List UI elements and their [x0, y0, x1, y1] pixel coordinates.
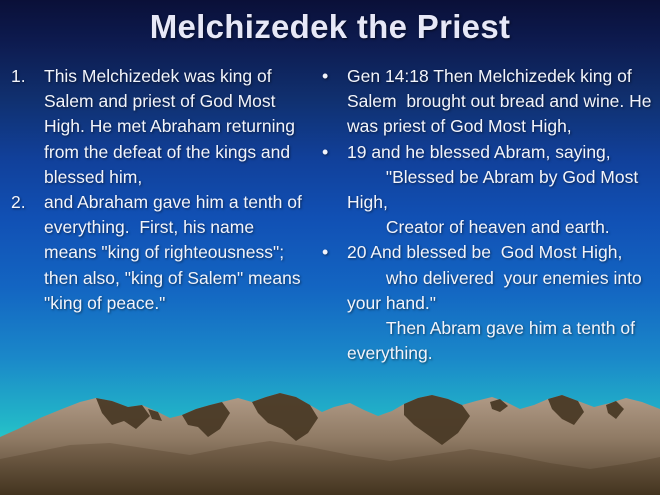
list-item: 2. and Abraham gave him a tenth of every… — [4, 190, 304, 316]
bullet-item-text-2: 19 and he blessed Abram, saying, "Blesse… — [347, 140, 658, 241]
list-item: • 19 and he blessed Abram, saying, "Bles… — [314, 140, 658, 241]
slide-body: 1. This Melchizedek was king of Salem an… — [0, 64, 660, 495]
list-marker-1: 1. — [4, 64, 44, 89]
bullet-item-text-3: 20 And blessed be God Most High, who del… — [347, 240, 658, 366]
list-item-text-1: This Melchizedek was king of Salem and p… — [44, 64, 304, 190]
list-marker-2: 2. — [4, 190, 44, 215]
list-item: 1. This Melchizedek was king of Salem an… — [4, 64, 304, 190]
list-item: • 20 And blessed be God Most High, who d… — [314, 240, 658, 366]
bullet-icon: • — [314, 64, 347, 89]
right-content-column: • Gen 14:18 Then Melchizedek king of Sal… — [308, 64, 660, 495]
presentation-slide: Melchizedek the Priest 1. This Melchized… — [0, 0, 660, 495]
bullet-icon: • — [314, 240, 347, 265]
list-item-text-2: and Abraham gave him a tenth of everythi… — [44, 190, 304, 316]
bullet-item-text-1: Gen 14:18 Then Melchizedek king of Salem… — [347, 64, 658, 140]
bullet-icon: • — [314, 140, 347, 165]
left-content-column: 1. This Melchizedek was king of Salem an… — [0, 64, 308, 495]
list-item: • Gen 14:18 Then Melchizedek king of Sal… — [314, 64, 658, 140]
slide-title: Melchizedek the Priest — [0, 7, 660, 47]
